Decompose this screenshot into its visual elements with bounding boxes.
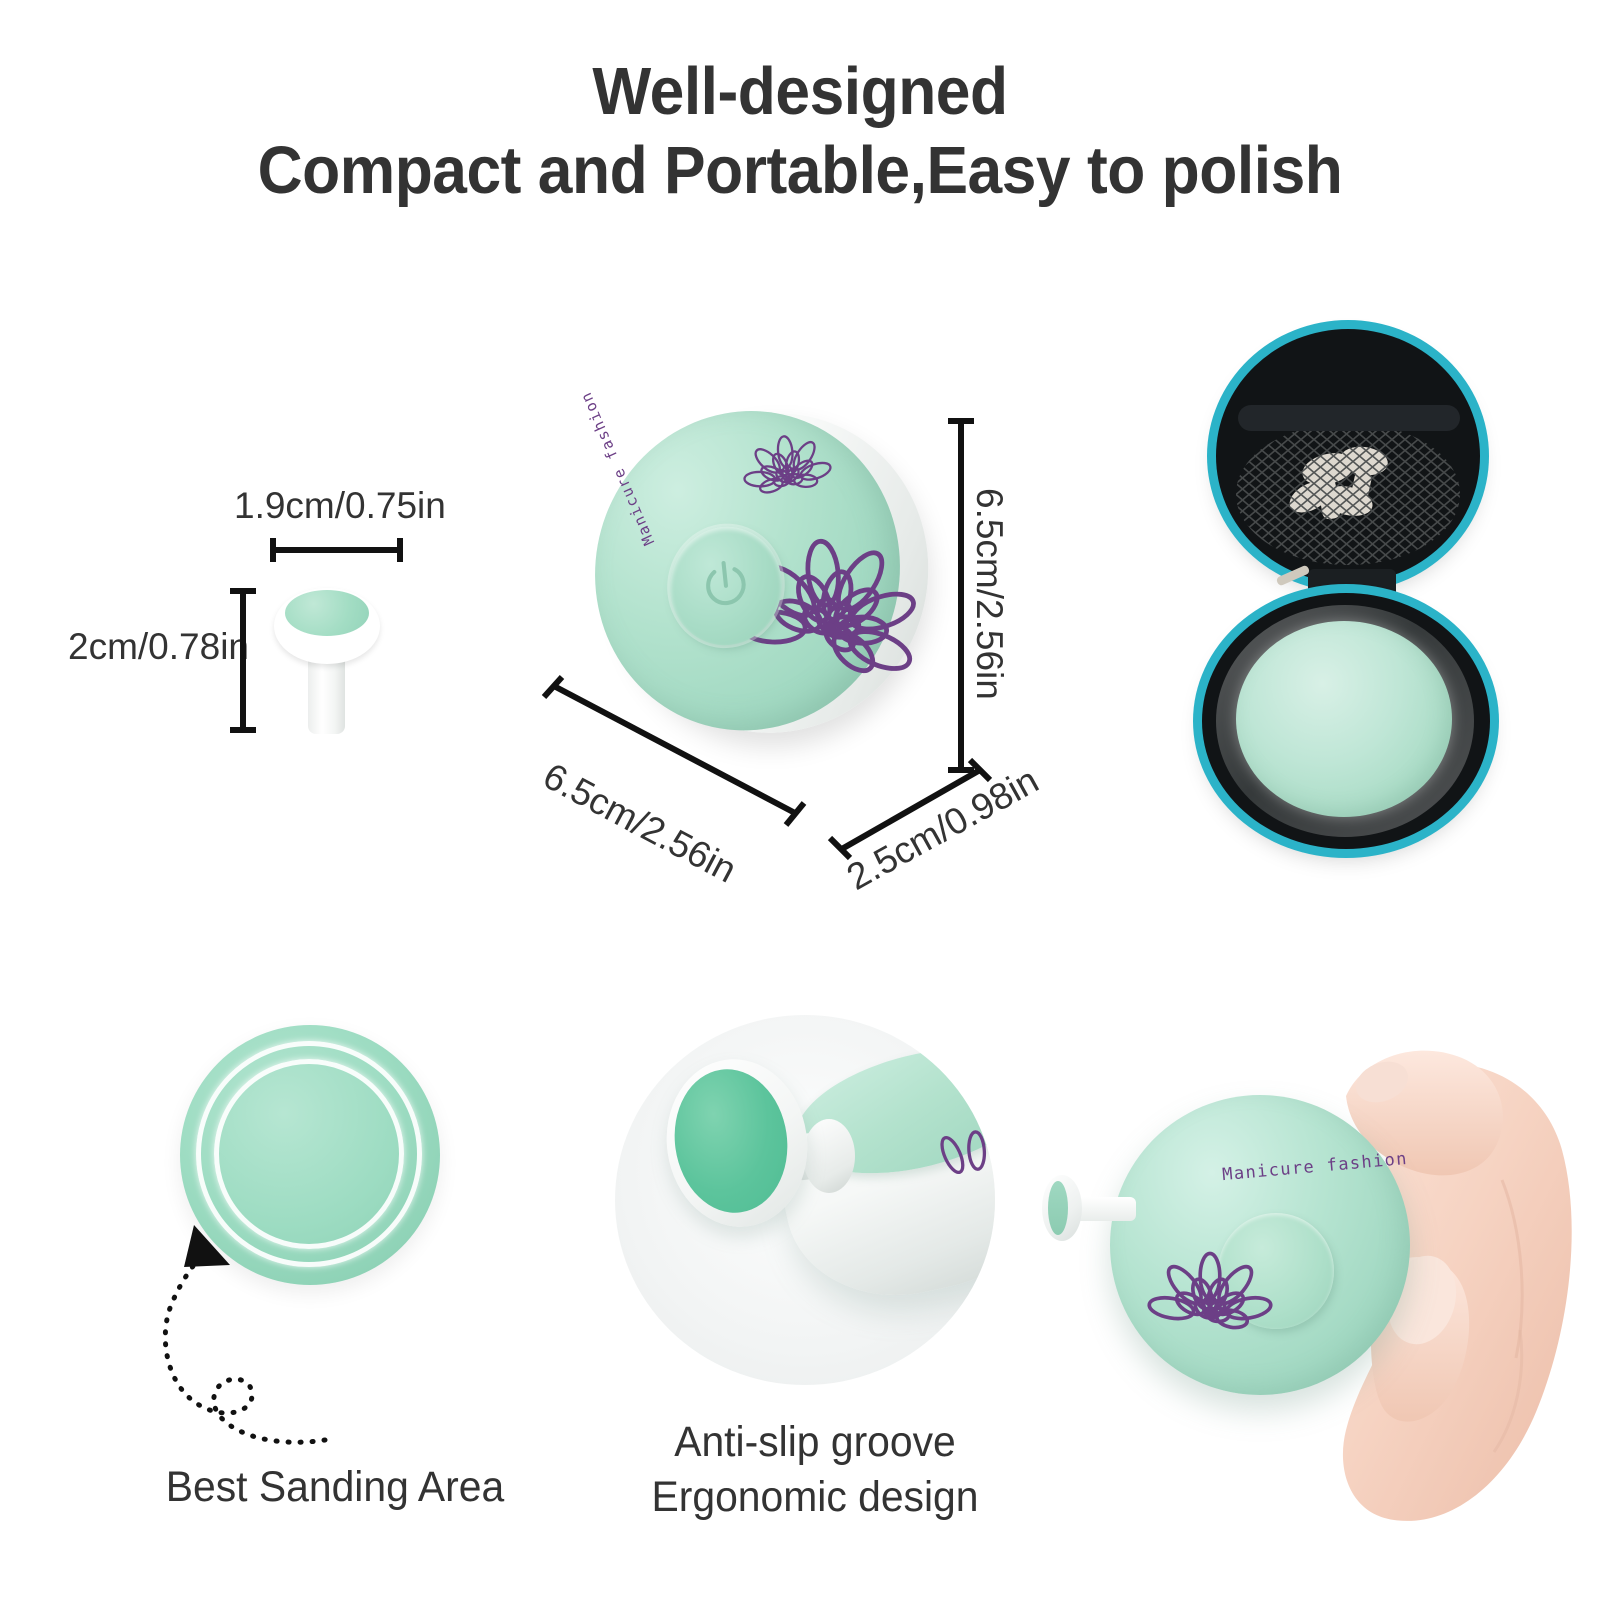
device-in-hand: Manicure fashion [1110, 1095, 1410, 1395]
device-panel: Manicure fashion 6.5cm/2.56in 6.5cm/2.56… [540, 400, 1080, 900]
anti-slip-groove-photo [615, 1015, 995, 1385]
flower-pattern-partial-icon [915, 1111, 995, 1221]
curly-dotted-arrow-icon [110, 1225, 410, 1455]
in-hand-head-stem [1074, 1197, 1136, 1221]
head-height-label: 2cm/0.78in [68, 626, 249, 668]
sanding-disc-inner-ring [214, 1059, 404, 1249]
head-grit-surface [285, 590, 369, 636]
head-collar [803, 1119, 855, 1193]
device-height-label: 6.5cm/2.56in [968, 488, 1010, 700]
in-hand-demo-panel: Manicure fashion [1090, 1000, 1600, 1560]
best-sanding-area-panel: Best Sanding Area [100, 1000, 570, 1560]
sanding-head-panel: 1.9cm/0.75in 2cm/0.78in [0, 440, 480, 770]
caption-line-2: Ergonomic design [601, 1470, 1029, 1525]
head-width-label: 1.9cm/0.75in [234, 485, 446, 527]
headline-line-1: Well-designed [56, 52, 1544, 131]
caption-line-1: Anti-slip groove [601, 1415, 1029, 1470]
best-sanding-area-caption: Best Sanding Area [112, 1460, 559, 1515]
case-lid [1216, 329, 1480, 583]
head-stem [308, 652, 345, 734]
product-infographic: Well-designed Compact and Portable,Easy … [0, 0, 1600, 1600]
caption-line: Best Sanding Area [166, 1463, 504, 1511]
in-hand-head-grit [1048, 1181, 1068, 1235]
headline-line-2: Compact and Portable,Easy to polish [56, 131, 1544, 210]
anti-slip-groove-panel: Anti-slip groove Ergonomic design [590, 1000, 1040, 1560]
attached-sanding-head [653, 1055, 843, 1245]
anti-slip-groove-caption: Anti-slip groove Ergonomic design [601, 1415, 1029, 1525]
carrying-case-panel [1190, 325, 1530, 855]
flower-pattern-small-icon [728, 418, 848, 543]
power-icon [697, 554, 754, 617]
device-in-hand-sanding-head [1038, 1175, 1134, 1241]
head-width-dimension-line [270, 547, 403, 553]
case-device-inside [1236, 621, 1452, 817]
device-brand-text: Manicure fashion [577, 389, 659, 549]
head-height-dimension-line [240, 588, 246, 733]
sanding-head-graphic [268, 580, 408, 740]
case-elastic-band [1238, 405, 1460, 431]
page-title: Well-designed Compact and Portable,Easy … [0, 52, 1600, 210]
case-mesh-pocket [1236, 423, 1460, 565]
case-base [1202, 593, 1490, 849]
flower-pattern-in-hand-icon [1140, 1245, 1280, 1385]
device-height-dimension-line [958, 418, 964, 773]
